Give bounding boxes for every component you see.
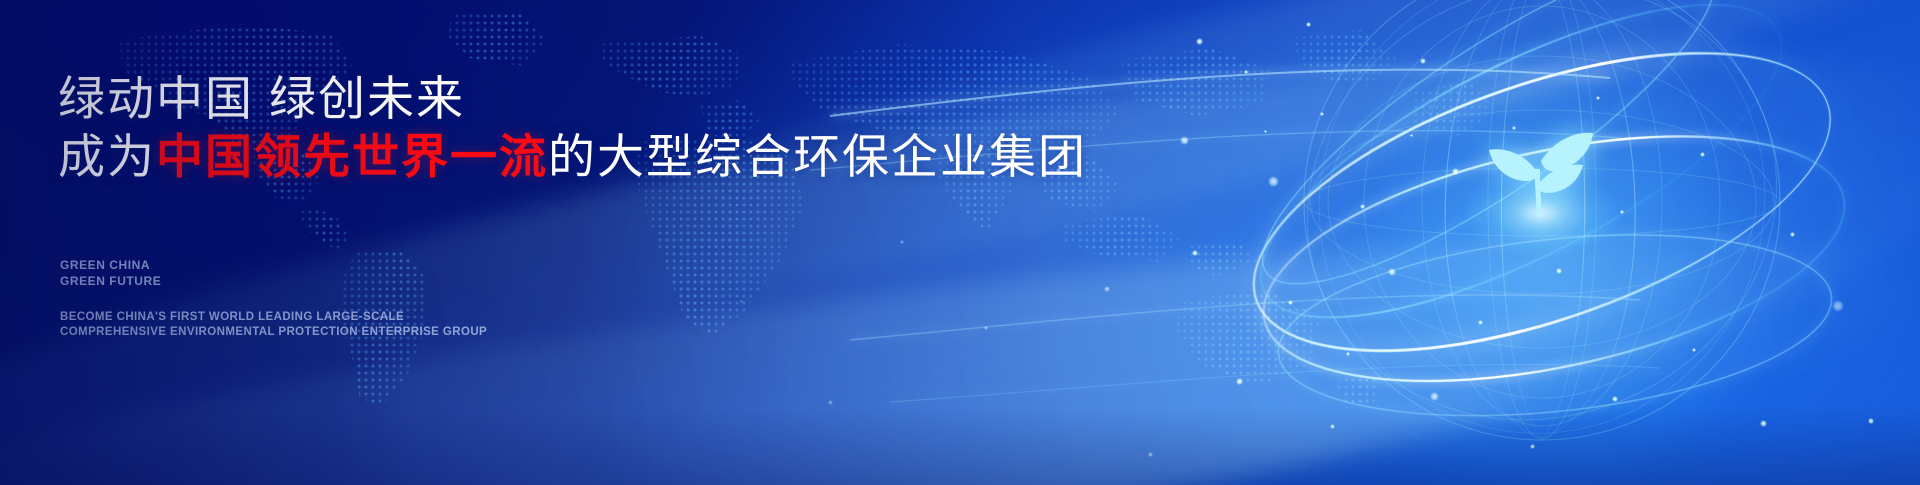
headline-line-2: 成为中国领先世界一流的大型综合环保企业集团 — [58, 130, 1078, 185]
wireframe-globe — [1190, 0, 1890, 485]
slogan-line-2: GREEN FUTURE — [60, 274, 161, 290]
tagline-english: BECOME CHINA'S FIRST WORLD LEADING LARGE… — [60, 310, 487, 341]
tagline-line-2: COMPREHENSIVE ENVIRONMENTAL PROTECTION E… — [60, 325, 487, 340]
headline-block: 绿动中国 绿创未来 成为中国领先世界一流的大型综合环保企业集团 — [58, 72, 1078, 184]
headline-prefix: 成为 — [58, 130, 156, 183]
hero-banner: 绿动中国 绿创未来 成为中国领先世界一流的大型综合环保企业集团 GREEN CH… — [0, 0, 1920, 485]
light-sweep-band — [246, 0, 1920, 421]
headline-line-1: 绿动中国 绿创未来 — [58, 72, 1078, 127]
headline-suffix: 的大型综合环保企业集团 — [548, 130, 1087, 183]
slogan-line-1: GREEN CHINA — [60, 258, 161, 274]
globe-core-flare — [1466, 170, 1616, 256]
globe-glow — [1310, 52, 1780, 485]
sprout-icon — [1479, 117, 1595, 221]
headline-highlight: 中国领先世界一流 — [156, 130, 548, 183]
tagline-line-1: BECOME CHINA'S FIRST WORLD LEADING LARGE… — [60, 310, 487, 325]
slogan-english: GREEN CHINA GREEN FUTURE — [60, 258, 161, 289]
